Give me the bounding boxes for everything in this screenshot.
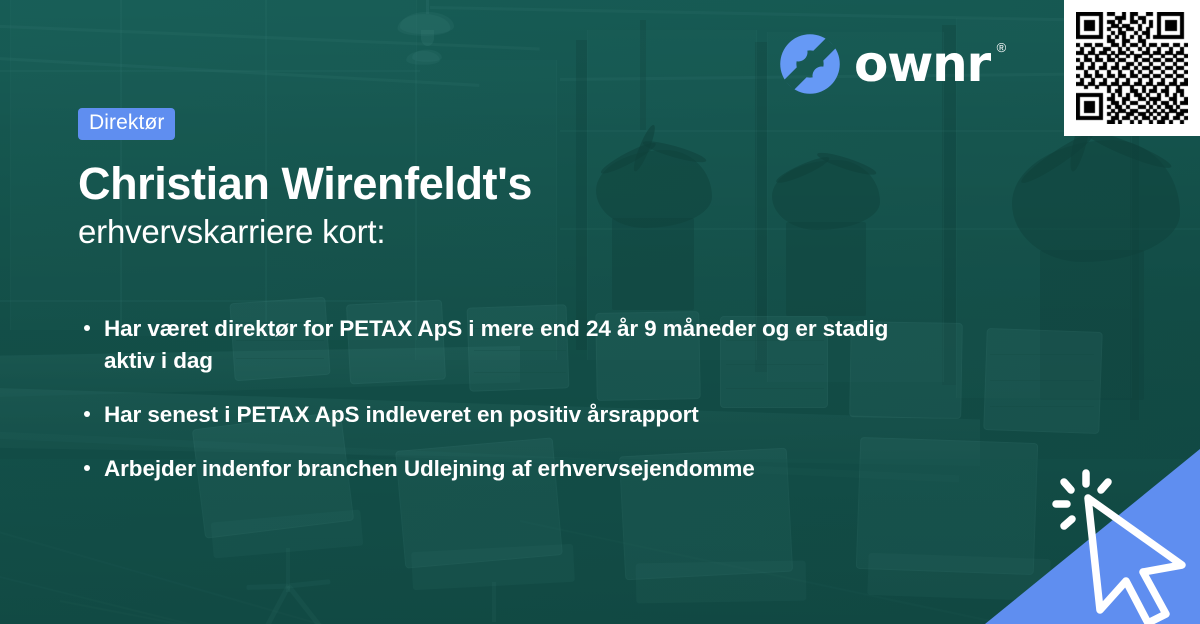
list-item: Arbejder indenfor branchen Udlejning af … xyxy=(82,453,942,485)
ownr-wordmark: ownr® xyxy=(854,39,990,89)
list-item-label: Har været direktør for PETAX ApS i mere … xyxy=(104,316,888,373)
page-subtitle: erhvervskarriere kort: xyxy=(78,214,978,251)
registered-trademark-icon: ® xyxy=(997,41,1005,54)
ownr-swirl-logo-icon xyxy=(779,33,841,95)
ownr-wordmark-text: ownr xyxy=(854,35,990,93)
qr-code-panel[interactable] xyxy=(1064,0,1200,136)
bullet-dot-icon xyxy=(84,325,90,331)
bullet-dot-icon xyxy=(84,411,90,417)
list-item-label: Arbejder indenfor branchen Udlejning af … xyxy=(104,456,755,481)
page-title: Christian Wirenfeldt's xyxy=(78,160,978,208)
ownr-logo[interactable]: ownr® xyxy=(779,33,990,95)
list-item: Har været direktør for PETAX ApS i mere … xyxy=(82,313,942,377)
role-badge: Direktør xyxy=(78,108,175,140)
cursor-corner-badge xyxy=(960,424,1200,624)
list-item-label: Har senest i PETAX ApS indleveret en pos… xyxy=(104,402,699,427)
qr-code-icon xyxy=(1076,12,1188,124)
corner-wedge-graphic xyxy=(960,424,1200,624)
list-item: Har senest i PETAX ApS indleveret en pos… xyxy=(82,399,942,431)
career-summary-list: Har været direktør for PETAX ApS i mere … xyxy=(82,313,942,485)
share-card: ownr® Direktør Christian Wirenfeldt's er… xyxy=(0,0,1200,624)
headline-block: Direktør Christian Wirenfeldt's erhvervs… xyxy=(78,108,978,251)
bullet-dot-icon xyxy=(84,465,90,471)
